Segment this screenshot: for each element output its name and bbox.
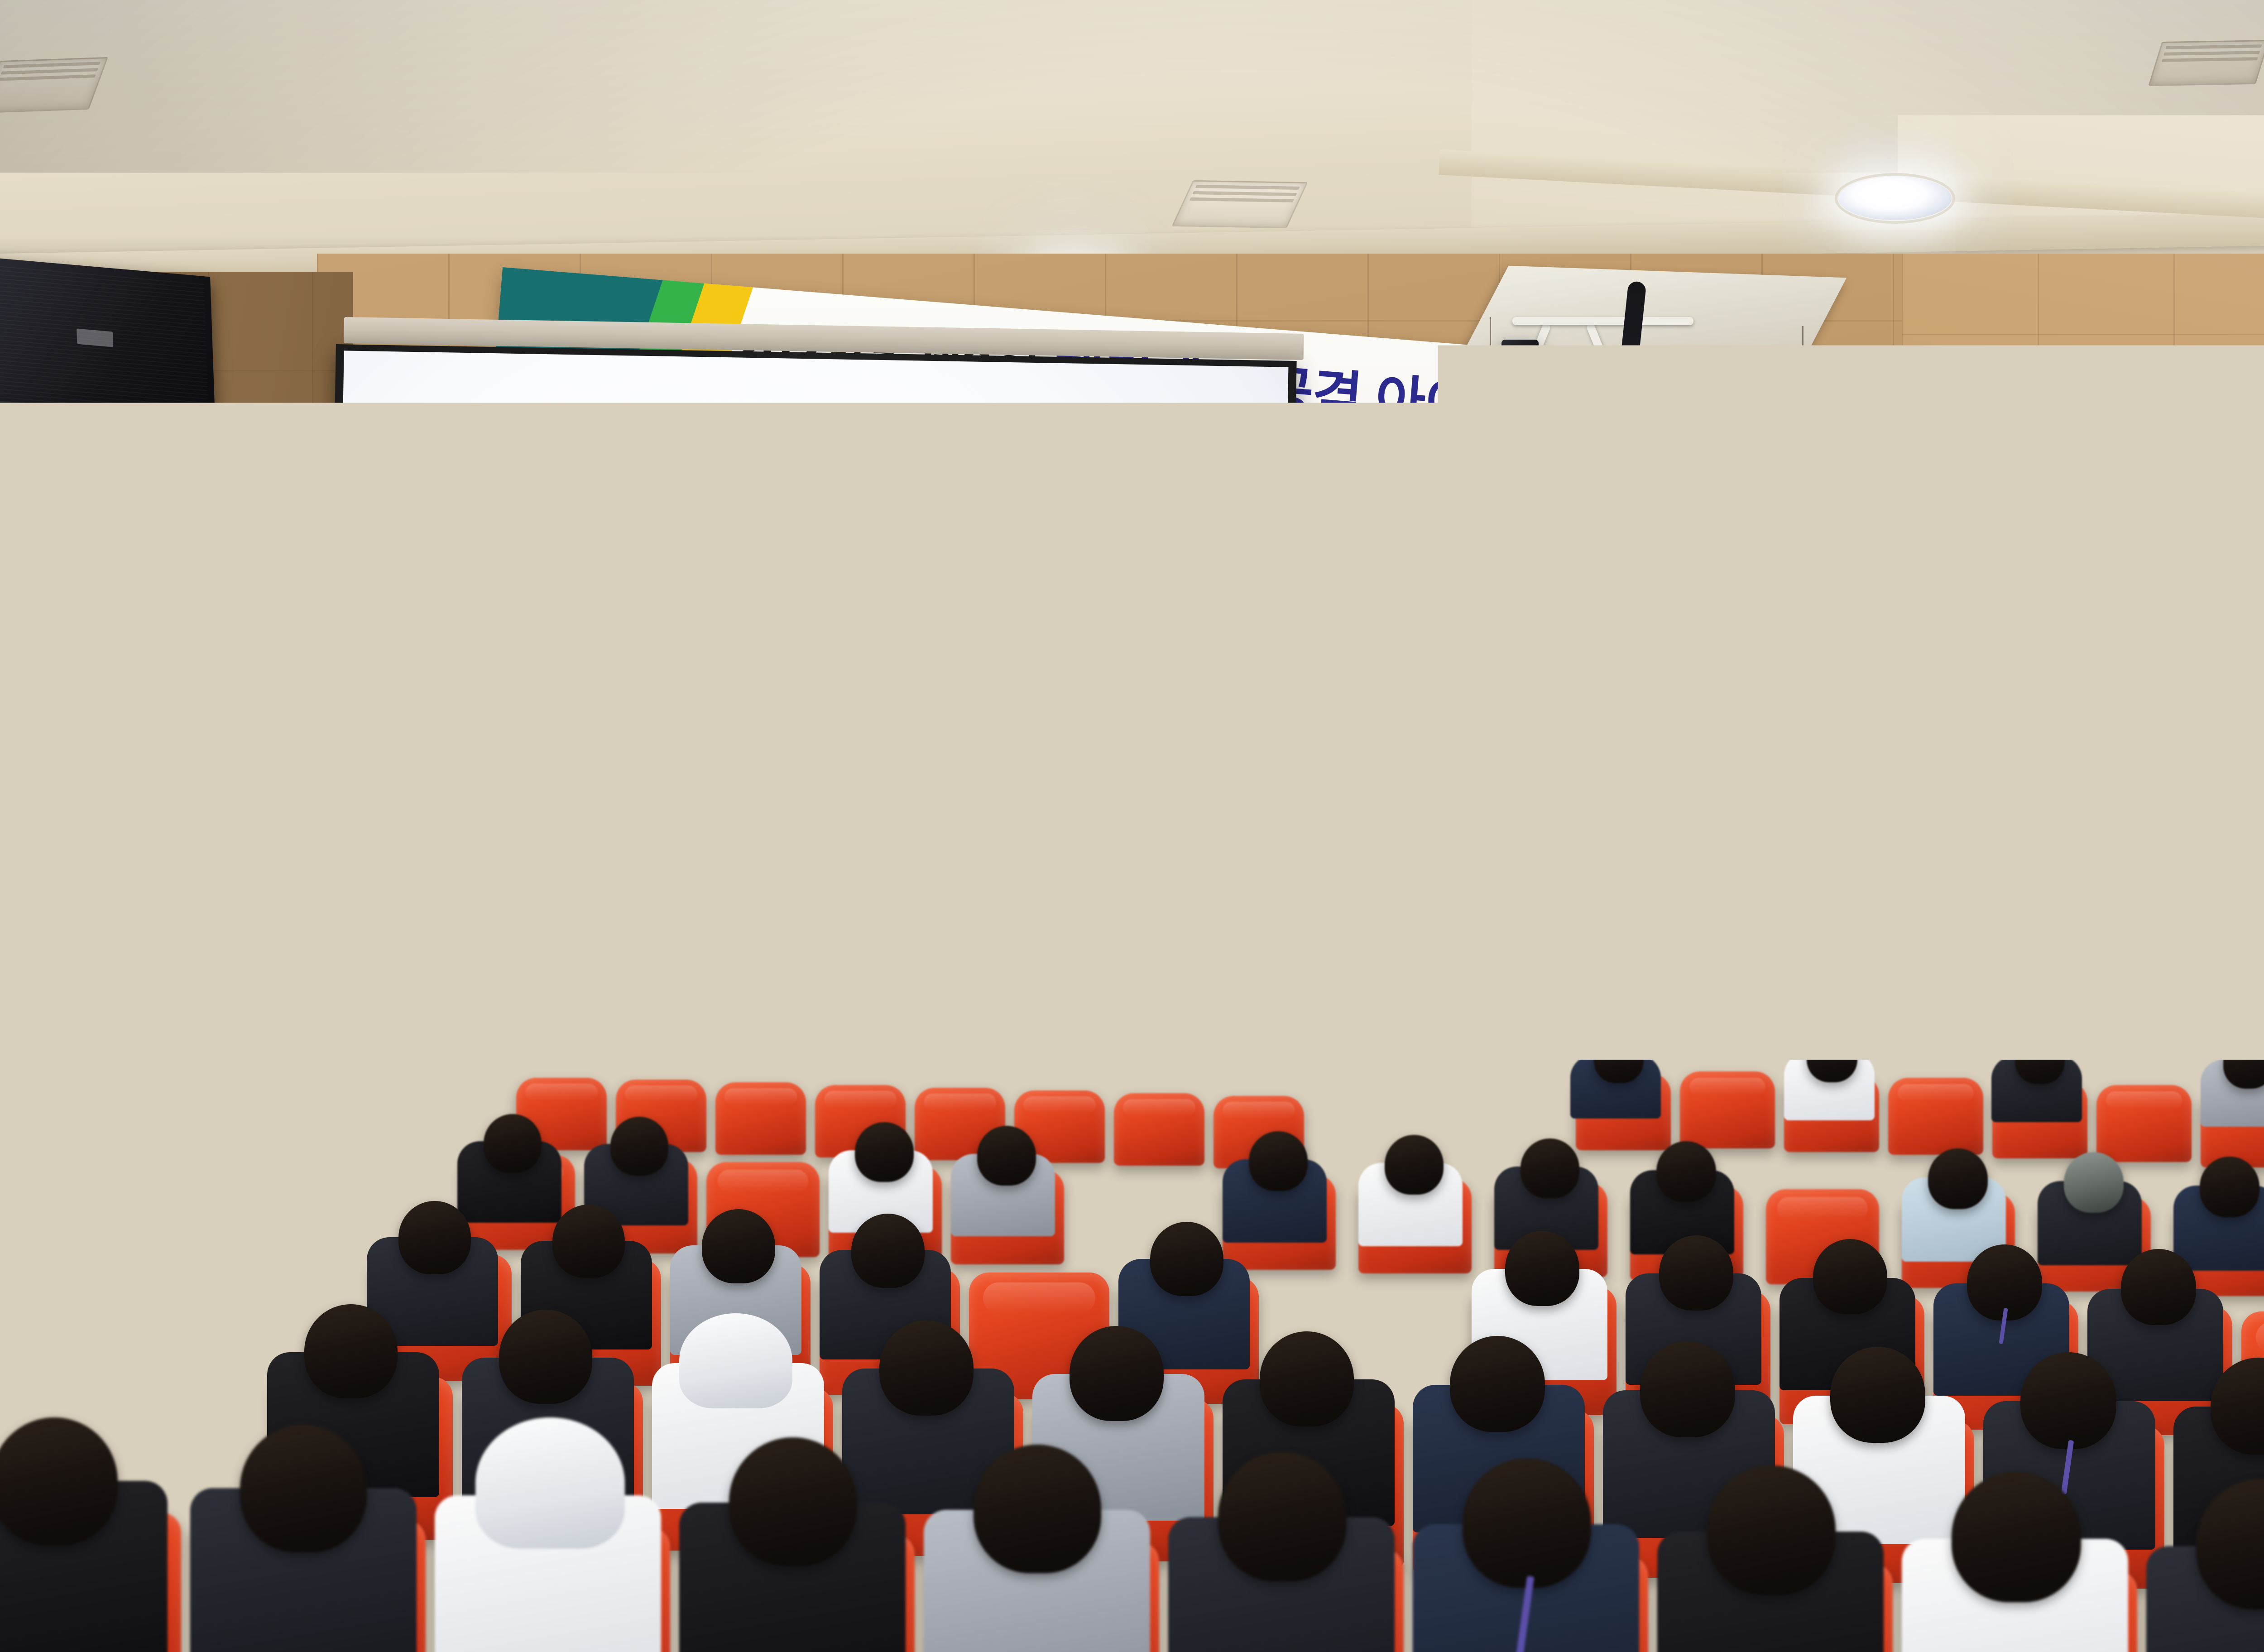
slide-footer-left: 고등전문 B 이준용, 문희성 — [469, 937, 648, 964]
monitor-logo-icon — [1848, 741, 1876, 769]
ceiling-camera — [1501, 340, 1539, 389]
slide-footer-date: 2023/10/14 — [1065, 947, 1147, 968]
lift-wire — [1490, 317, 1491, 498]
hvac-vent — [2148, 40, 2264, 86]
slide-subtitle: 영재원 터줏대감 이준용과 문희성 — [473, 711, 846, 756]
projector — [1526, 562, 1703, 610]
projector-vent — [1530, 567, 1597, 603]
presenter-hair — [1785, 752, 1853, 798]
lift-wire — [1802, 326, 1804, 507]
hooded-person-hood — [679, 1313, 792, 1408]
auditorium-scene: 2023년 제3회 해킹메일 공격 아이디어 경진대회 ▶일시: 2023. 1… — [0, 0, 2264, 1652]
door-handle[interactable] — [89, 942, 107, 976]
speaker-right-bottom — [1874, 492, 2079, 641]
slide-title: SMTP 프로토콜의 취약점을 이용한 피싱 — [474, 634, 1314, 721]
audience-area: 발표팀 — [0, 1060, 2264, 1652]
speaker-left-top — [0, 257, 216, 427]
hooded-person-hood — [475, 1417, 625, 1549]
presenter-hand-left — [1862, 975, 1897, 1003]
hvac-vent — [1171, 180, 1308, 228]
monitor-label-tag — [1987, 720, 2006, 728]
projection-screen-frame: SMTP 프로토콜의 취약점을 이용한 피싱 영재원 터줏대감 이준용과 문희성… — [324, 344, 1297, 1067]
projection-screen: SMTP 프로토콜의 취약점을 이용한 피싱 영재원 터줏대감 이준용과 문희성… — [332, 351, 1288, 1055]
speaker-left-bottom — [0, 399, 206, 551]
ceiling-light — [1838, 177, 1952, 220]
